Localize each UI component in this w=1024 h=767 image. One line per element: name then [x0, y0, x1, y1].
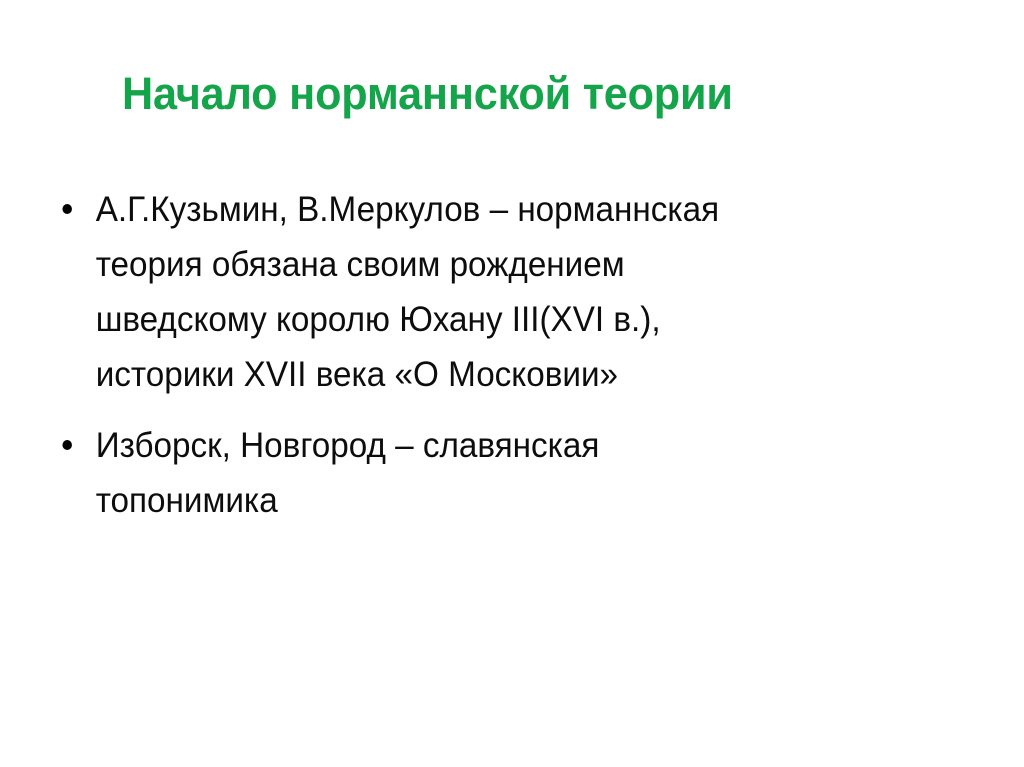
text-line: историки XVII века «О Московии» — [96, 347, 888, 402]
text-line: теория обязана своим рождением — [96, 237, 888, 292]
page-title: Начало норманнской теории — [122, 70, 733, 117]
text-line: Изборск, Новгород – славянская — [96, 418, 888, 473]
list-item: Изборск, Новгород – славянская топонимик… — [52, 418, 888, 528]
list-item: А.Г.Кузьмин, В.Меркулов – норманнская те… — [52, 182, 888, 402]
list-item-text: А.Г.Кузьмин, В.Меркулов – норманнская те… — [96, 182, 888, 402]
bullet-list: А.Г.Кузьмин, В.Меркулов – норманнская те… — [52, 182, 932, 528]
presentation-slide: Начало норманнской теории А.Г.Кузьмин, В… — [0, 0, 1024, 767]
bullet-dot-icon — [62, 204, 71, 214]
list-item-text: Изборск, Новгород – славянская топонимик… — [96, 418, 888, 528]
slide-body-content: А.Г.Кузьмин, В.Меркулов – норманнская те… — [52, 182, 932, 528]
slide-title-block: Начало норманнской теории — [122, 58, 922, 130]
text-line: шведскому королю Юхану III(XVI в.), — [96, 292, 888, 347]
text-line: А.Г.Кузьмин, В.Меркулов – норманнская — [96, 182, 888, 237]
bullet-dot-icon — [62, 440, 71, 450]
text-line: топонимика — [96, 473, 888, 528]
